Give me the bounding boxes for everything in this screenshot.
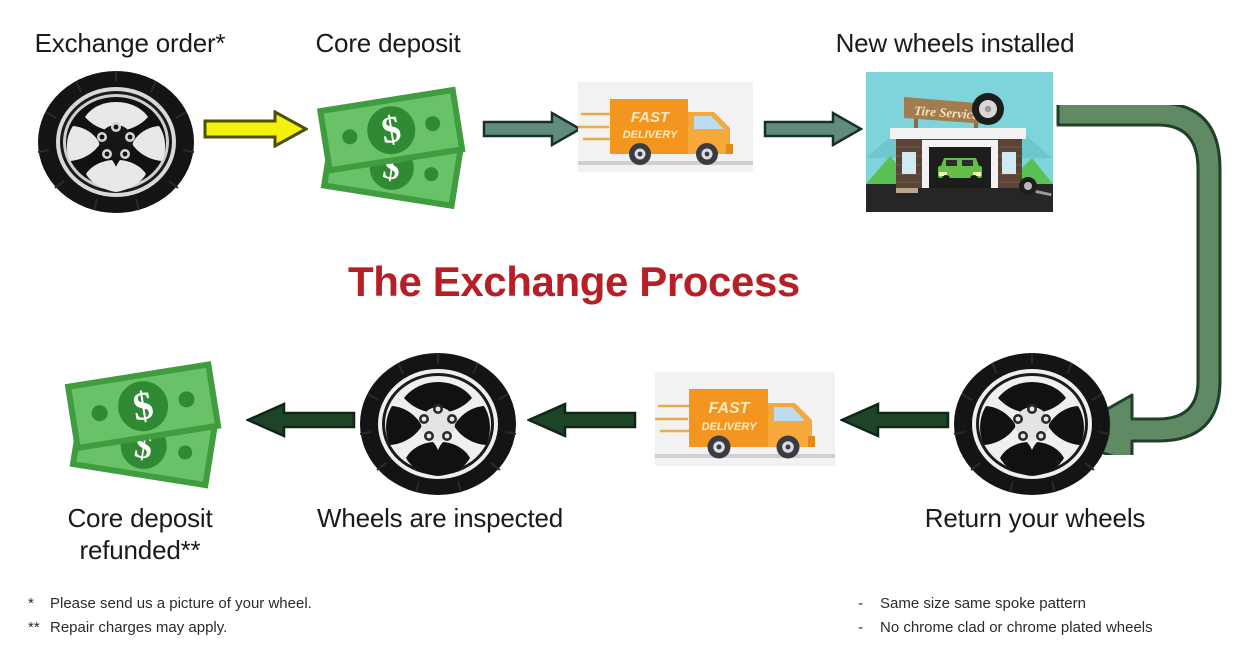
footnote-left-1-mark: * xyxy=(28,592,50,616)
arrow-deposit-to-shipping xyxy=(482,110,582,148)
wheel-light-icon-inspected xyxy=(358,352,518,497)
label-exchange-order: Exchange order* xyxy=(10,28,250,60)
footnote-left-2: **Repair charges may apply. xyxy=(28,616,312,640)
label-core-deposit-refunded-line2: refunded** xyxy=(30,535,250,567)
footnote-left-1-text: Please send us a picture of your wheel. xyxy=(50,595,312,612)
footnotes-left: *Please send us a picture of your wheel.… xyxy=(28,592,312,641)
footnote-right-2-mark: - xyxy=(858,616,880,640)
footnote-right-1-mark: - xyxy=(858,592,880,616)
tire-service-garage-icon: Tire Service xyxy=(866,72,1053,212)
footnote-left-2-mark: ** xyxy=(28,616,50,640)
arrow-shipping-to-inspect xyxy=(527,400,637,440)
wheel-light-icon-return xyxy=(952,352,1112,497)
label-core-deposit-refunded-line1: Core deposit xyxy=(30,503,250,535)
footnote-left-1: *Please send us a picture of your wheel. xyxy=(28,592,312,616)
footnote-right-1-text: Same size same spoke pattern xyxy=(880,595,1086,612)
arrow-order-to-deposit xyxy=(203,110,308,148)
label-core-deposit: Core deposit xyxy=(288,28,488,60)
footnote-right-2: -No chrome clad or chrome plated wheels xyxy=(858,616,1153,640)
arrow-inspect-to-refund xyxy=(246,400,356,440)
money-refund-icon: $ $ xyxy=(55,350,235,490)
delivery-truck-icon-top: FAST DELIVERY xyxy=(578,82,753,172)
page-title: The Exchange Process xyxy=(348,258,800,306)
label-new-wheels-installed: New wheels installed xyxy=(805,28,1105,60)
svg-text:DELIVERY: DELIVERY xyxy=(702,421,758,433)
arrow-shipping-to-garage xyxy=(763,110,863,148)
svg-text:FAST: FAST xyxy=(709,400,751,417)
label-return-your-wheels: Return your wheels xyxy=(890,503,1180,535)
svg-text:FAST: FAST xyxy=(631,109,671,126)
footnote-left-2-text: Repair charges may apply. xyxy=(50,619,227,636)
svg-text:DELIVERY: DELIVERY xyxy=(623,129,679,141)
arrow-return-to-shipping xyxy=(840,400,950,440)
footnote-right-2-text: No chrome clad or chrome plated wheels xyxy=(880,619,1153,636)
money-icon: $ $ xyxy=(308,75,478,210)
label-wheels-are-inspected: Wheels are inspected xyxy=(300,503,580,535)
exchange-process-diagram: Exchange order* Core deposit New wheels … xyxy=(0,0,1250,666)
footnote-right-1: -Same size same spoke pattern xyxy=(858,592,1153,616)
wheel-dark-icon xyxy=(36,70,196,215)
footnotes-right: -Same size same spoke pattern -No chrome… xyxy=(858,592,1153,641)
delivery-truck-icon-bottom: FAST DELIVERY xyxy=(655,372,835,466)
